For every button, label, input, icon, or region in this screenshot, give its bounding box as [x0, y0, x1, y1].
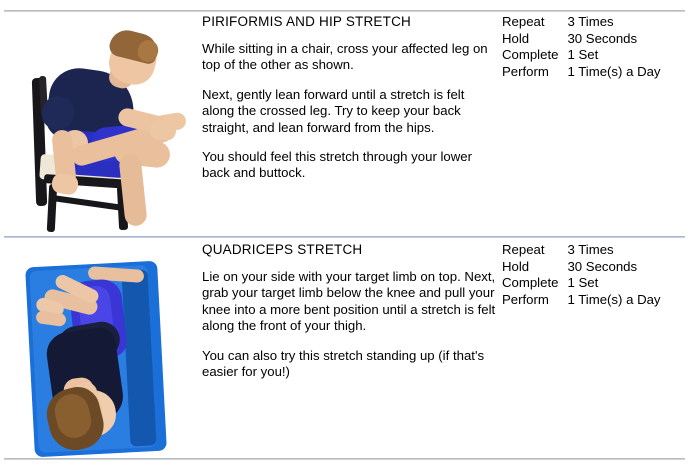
exercise-paragraph: While sitting in a chair, cross your aff… [202, 41, 496, 74]
parameter-value: 30 Seconds [567, 259, 660, 276]
exercise-parameters-1: Repeat 3 Times Hold 30 Seconds Complete … [496, 14, 689, 234]
exercise-paragraph: You should feel this stretch through you… [202, 149, 496, 182]
parameter-label: Complete [502, 275, 567, 292]
parameter-label: Hold [502, 31, 567, 48]
parameter-label: Hold [502, 259, 567, 276]
illustration-person-on-mat [14, 242, 192, 464]
exercise-title-1: PIRIFORMIS AND HIP STRETCH [202, 14, 496, 29]
parameter-value: 30 Seconds [567, 31, 660, 48]
exercise-photo-side-lying-quad-stretch [14, 242, 192, 464]
parameter-value: 1 Set [567, 275, 660, 292]
exercise-photo-seated-chair-stretch [14, 14, 192, 234]
section-divider [4, 236, 685, 238]
parameter-row: Complete 1 Set [502, 275, 661, 292]
parameter-value: 1 Time(s) a Day [567, 64, 660, 81]
exercise-row-quadriceps-stretch: QUADRICEPS STRETCH Lie on your side with… [0, 242, 689, 464]
exercise-figure-2 [0, 242, 196, 464]
exercise-figure-1 [0, 14, 196, 234]
parameter-value: 3 Times [567, 14, 660, 31]
exercise-title-2: QUADRICEPS STRETCH [202, 242, 496, 257]
parameter-value: 1 Time(s) a Day [567, 292, 660, 309]
parameter-label: Complete [502, 47, 567, 64]
exercise-parameters-2: Repeat 3 Times Hold 30 Seconds Complete … [496, 242, 689, 464]
exercise-paragraph: Lie on your side with your target limb o… [202, 269, 496, 335]
exercise-text-2: QUADRICEPS STRETCH Lie on your side with… [196, 242, 496, 464]
parameter-row: Hold 30 Seconds [502, 259, 661, 276]
parameter-label: Repeat [502, 242, 567, 259]
parameters-table: Repeat 3 Times Hold 30 Seconds Complete … [502, 14, 661, 80]
bottom-divider [4, 458, 685, 460]
parameters-table: Repeat 3 Times Hold 30 Seconds Complete … [502, 242, 661, 308]
person-right-hand-shape [149, 119, 177, 142]
parameter-row: Complete 1 Set [502, 47, 661, 64]
exercise-handout: PIRIFORMIS AND HIP STRETCH While sitting… [0, 0, 689, 472]
parameter-value: 1 Set [567, 47, 660, 64]
parameter-row: Perform 1 Time(s) a Day [502, 64, 661, 81]
parameter-row: Repeat 3 Times [502, 242, 661, 259]
parameter-row: Repeat 3 Times [502, 14, 661, 31]
parameter-row: Perform 1 Time(s) a Day [502, 292, 661, 309]
chair-rung-icon [50, 195, 126, 212]
parameter-label: Repeat [502, 14, 567, 31]
exercise-text-1: PIRIFORMIS AND HIP STRETCH While sitting… [196, 14, 496, 234]
parameter-row: Hold 30 Seconds [502, 31, 661, 48]
exercise-row-piriformis-and-hip-stretch: PIRIFORMIS AND HIP STRETCH While sitting… [0, 14, 689, 234]
top-divider [4, 10, 685, 12]
exercise-paragraph: Next, gently lean forward until a stretc… [202, 87, 496, 136]
parameter-label: Perform [502, 292, 567, 309]
parameter-label: Perform [502, 64, 567, 81]
exercise-paragraph: You can also try this stretch standing u… [202, 348, 496, 381]
illustration-seated-man [14, 14, 192, 234]
parameter-value: 3 Times [567, 242, 660, 259]
